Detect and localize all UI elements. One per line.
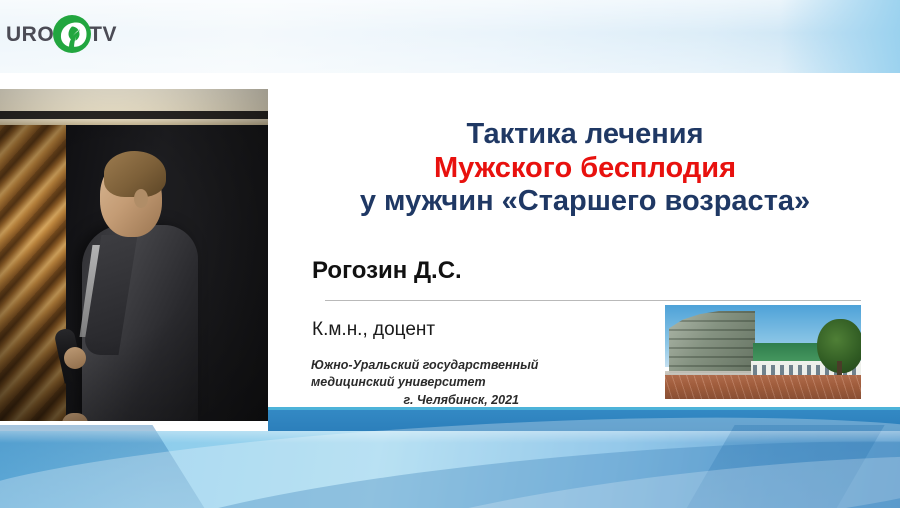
slide-title: Тактика лечения Мужского бесплодия у муж… [290, 118, 880, 219]
title-line-2: Мужского бесплодия [290, 152, 880, 186]
speaker-photo [0, 89, 268, 421]
author-name: Рогозин Д.С. [312, 257, 462, 285]
header-sheen [0, 0, 900, 73]
urotv-logo[interactable]: URO TV [6, 8, 116, 60]
divider-rule [325, 300, 861, 301]
university-building-photo [664, 304, 862, 400]
title-line-3: у мужчин «Старшего возраста» [290, 185, 880, 219]
author-affiliation: Южно-Уральский государственный медицинск… [311, 357, 641, 409]
leaf-circle-icon [50, 12, 94, 56]
building-plaza-texture [665, 375, 862, 400]
author-degree: К.м.н., доцент [312, 319, 435, 341]
affiliation-line-1: Южно-Уральский государственный [311, 358, 538, 372]
header-right-fade [780, 0, 900, 73]
slide-footer-band [0, 407, 900, 508]
logo-text-uro: URO [6, 24, 54, 45]
photo-vignette [0, 89, 268, 421]
slide-header-band [0, 0, 900, 73]
affiliation-line-2: медицинский университет [311, 375, 486, 389]
building-tower-windows [669, 311, 755, 373]
footer-top-shade [0, 431, 900, 443]
title-line-1: Тактика лечения [290, 118, 880, 152]
presentation-slide: URO TV Тактика лечения Мужс [0, 0, 900, 508]
